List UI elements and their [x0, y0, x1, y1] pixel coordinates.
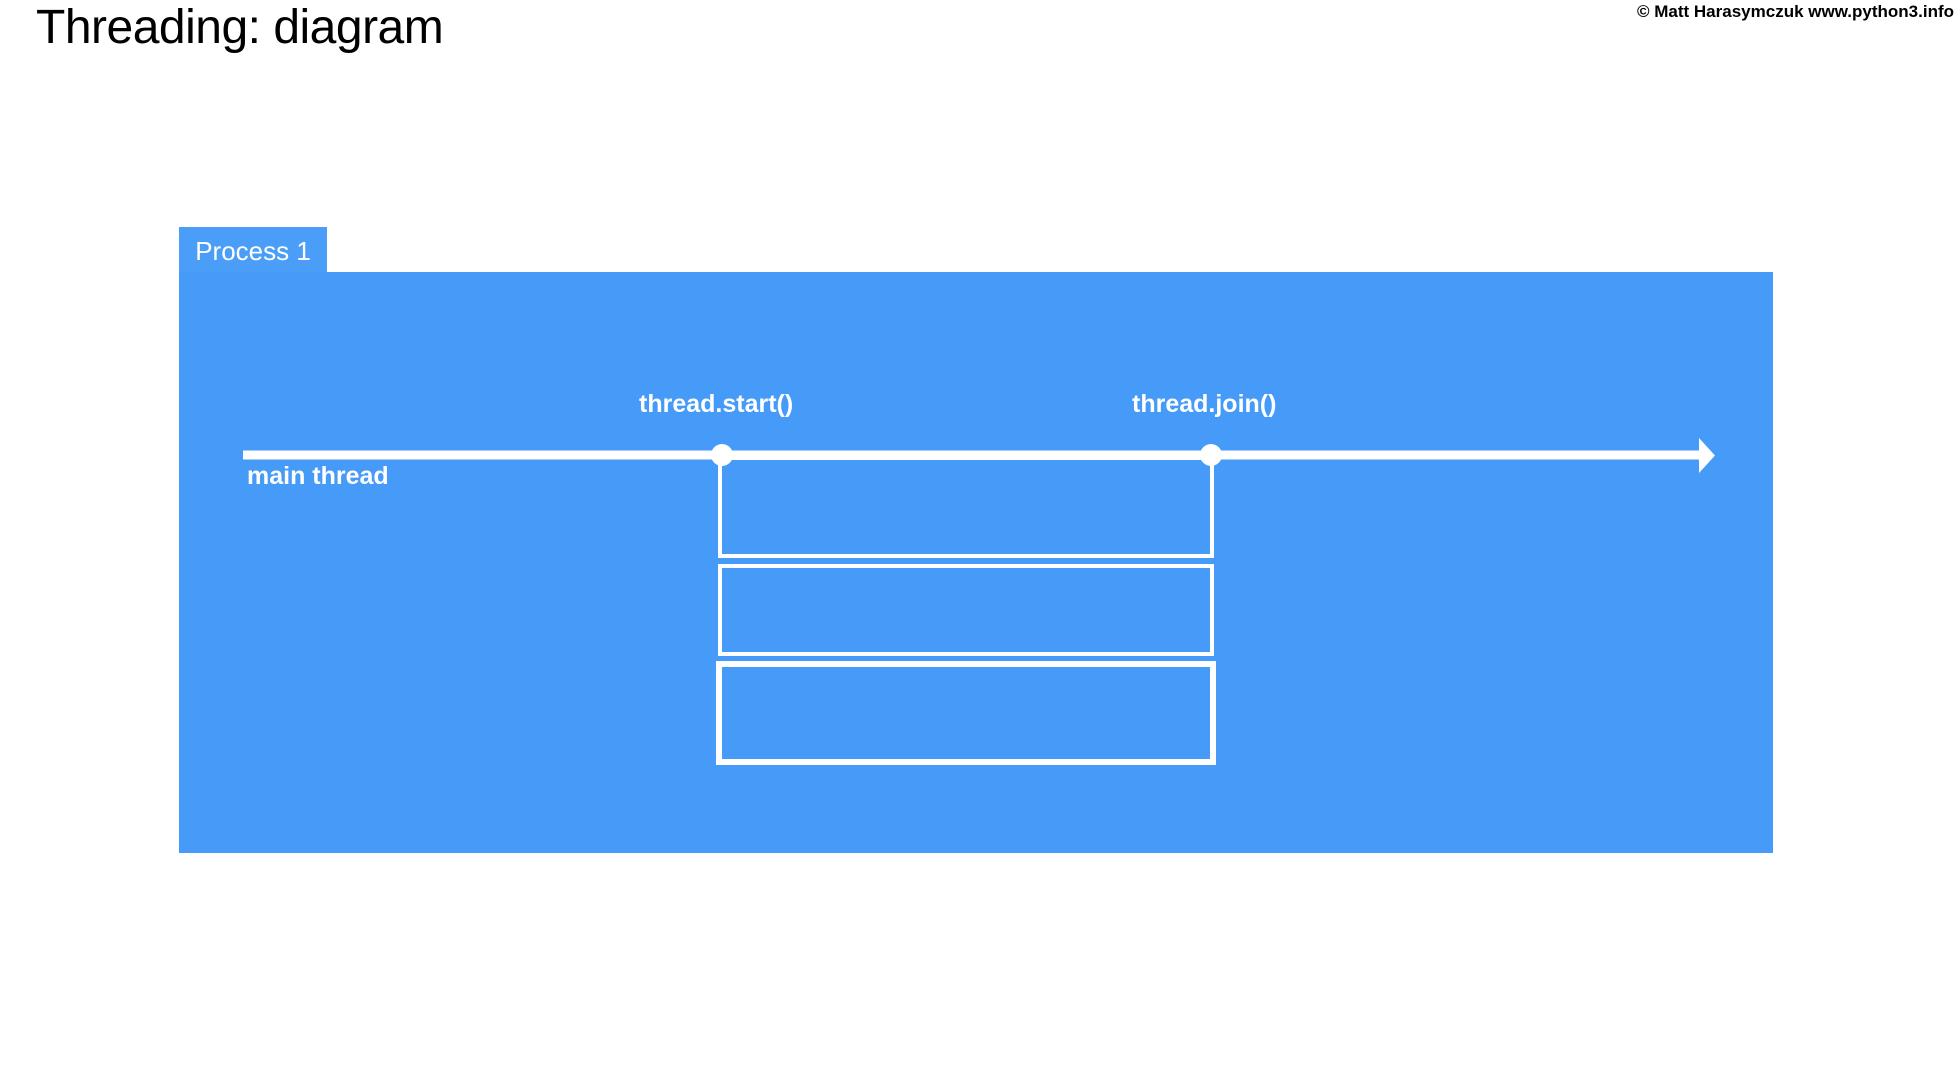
copyright-notice: © Matt Harasymczuk www.python3.info	[1637, 2, 1954, 22]
thread-start-label: thread.start()	[639, 392, 793, 417]
thread-join-label: thread.join()	[1132, 392, 1276, 417]
page-title: Threading: diagram	[36, 0, 443, 58]
main-thread-label: main thread	[247, 464, 389, 489]
process-panel	[179, 272, 1773, 853]
process-tab-label: Process 1	[195, 238, 311, 264]
process-tab: Process 1	[179, 227, 327, 275]
